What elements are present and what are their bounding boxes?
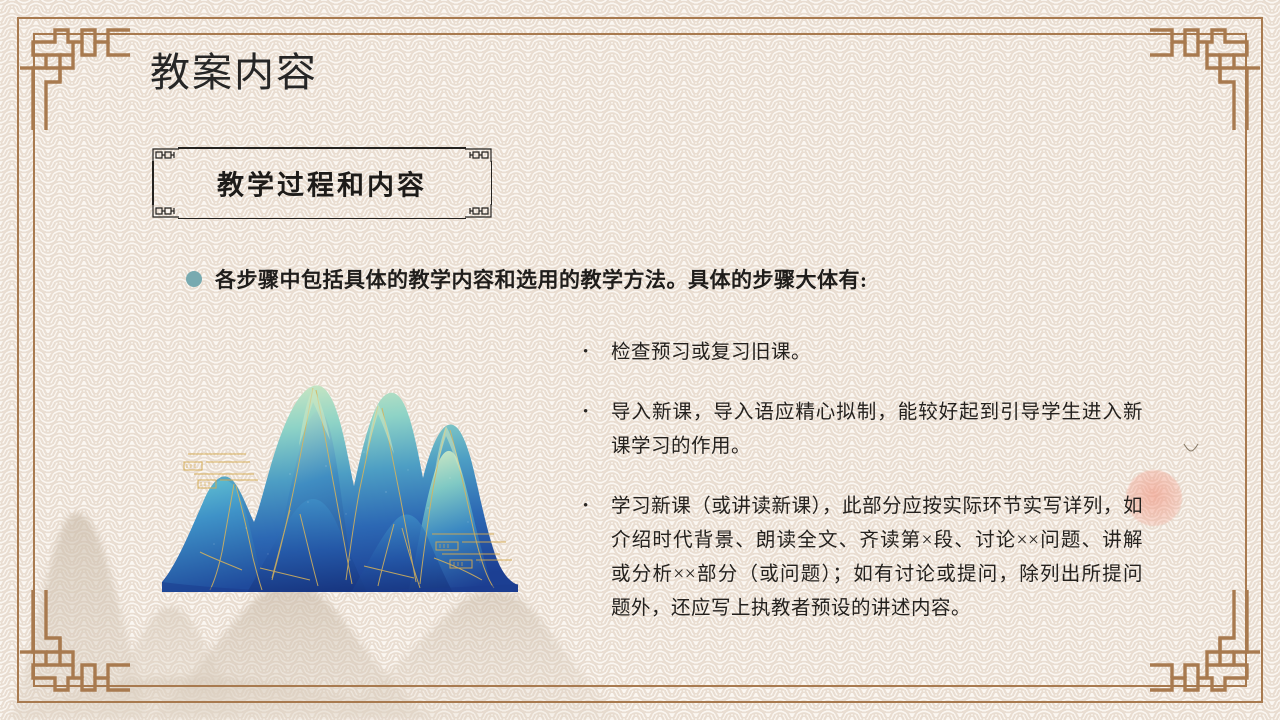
list-item-text: 导入新课，导入语应精心拟制，能较好起到引导学生进入新课学习的作用。	[611, 396, 1143, 464]
frame-border-bottom	[17, 701, 1263, 703]
body-bullet-list: • 检查预习或复习旧课。 • 导入新课，导入语应精心拟制，能较好起到引导学生进入…	[583, 336, 1143, 626]
teal-dot-icon	[186, 271, 202, 287]
section-title-box: 教学过程和内容	[152, 147, 492, 219]
list-item-text: 学习新课（或讲读新课），此部分应按实际环节实写详列，如介绍时代背景、朗读全文、齐…	[611, 490, 1143, 626]
fretwork-corner-small-icon	[152, 147, 180, 162]
list-item: • 检查预习或复习旧课。	[583, 336, 1143, 370]
chinese-fretwork-corner-icon	[10, 10, 130, 130]
frame-inner-top	[33, 33, 1247, 35]
chinese-fretwork-corner-icon	[10, 590, 130, 710]
frame-inner-bottom	[33, 685, 1247, 687]
list-item-text: 检查预习或复习旧课。	[611, 336, 1143, 370]
fretwork-corner-small-icon	[152, 204, 180, 219]
chinese-fretwork-corner-icon	[1150, 590, 1270, 710]
fretwork-corner-small-icon	[464, 204, 492, 219]
lead-heading-row: 各步骤中包括具体的教学内容和选用的教学方法。具体的步骤大体有:	[186, 264, 868, 294]
list-item: • 学习新课（或讲读新课），此部分应按实际环节实写详列，如介绍时代背景、朗读全文…	[583, 490, 1143, 626]
section-box-top-line	[178, 147, 466, 149]
section-box-bottom-line	[178, 218, 466, 220]
frame-inner-left	[33, 33, 35, 687]
bullet-marker-icon: •	[583, 490, 611, 514]
page-title: 教案内容	[150, 48, 318, 98]
bullet-marker-icon: •	[583, 336, 611, 360]
bird-glyph-icon	[1183, 443, 1199, 453]
slide-canvas: 教案内容	[0, 0, 1280, 720]
list-item: • 导入新课，导入语应精心拟制，能较好起到引导学生进入新课学习的作用。	[583, 396, 1143, 464]
fretwork-corner-small-icon	[464, 147, 492, 162]
lead-heading-text: 各步骤中包括具体的教学内容和选用的教学方法。具体的步骤大体有:	[215, 264, 868, 294]
section-title: 教学过程和内容	[152, 164, 492, 203]
bullet-marker-icon: •	[583, 396, 611, 420]
frame-border-top	[17, 17, 1263, 19]
frame-inner-right	[1245, 33, 1247, 687]
chinese-fretwork-corner-icon	[1150, 10, 1270, 130]
